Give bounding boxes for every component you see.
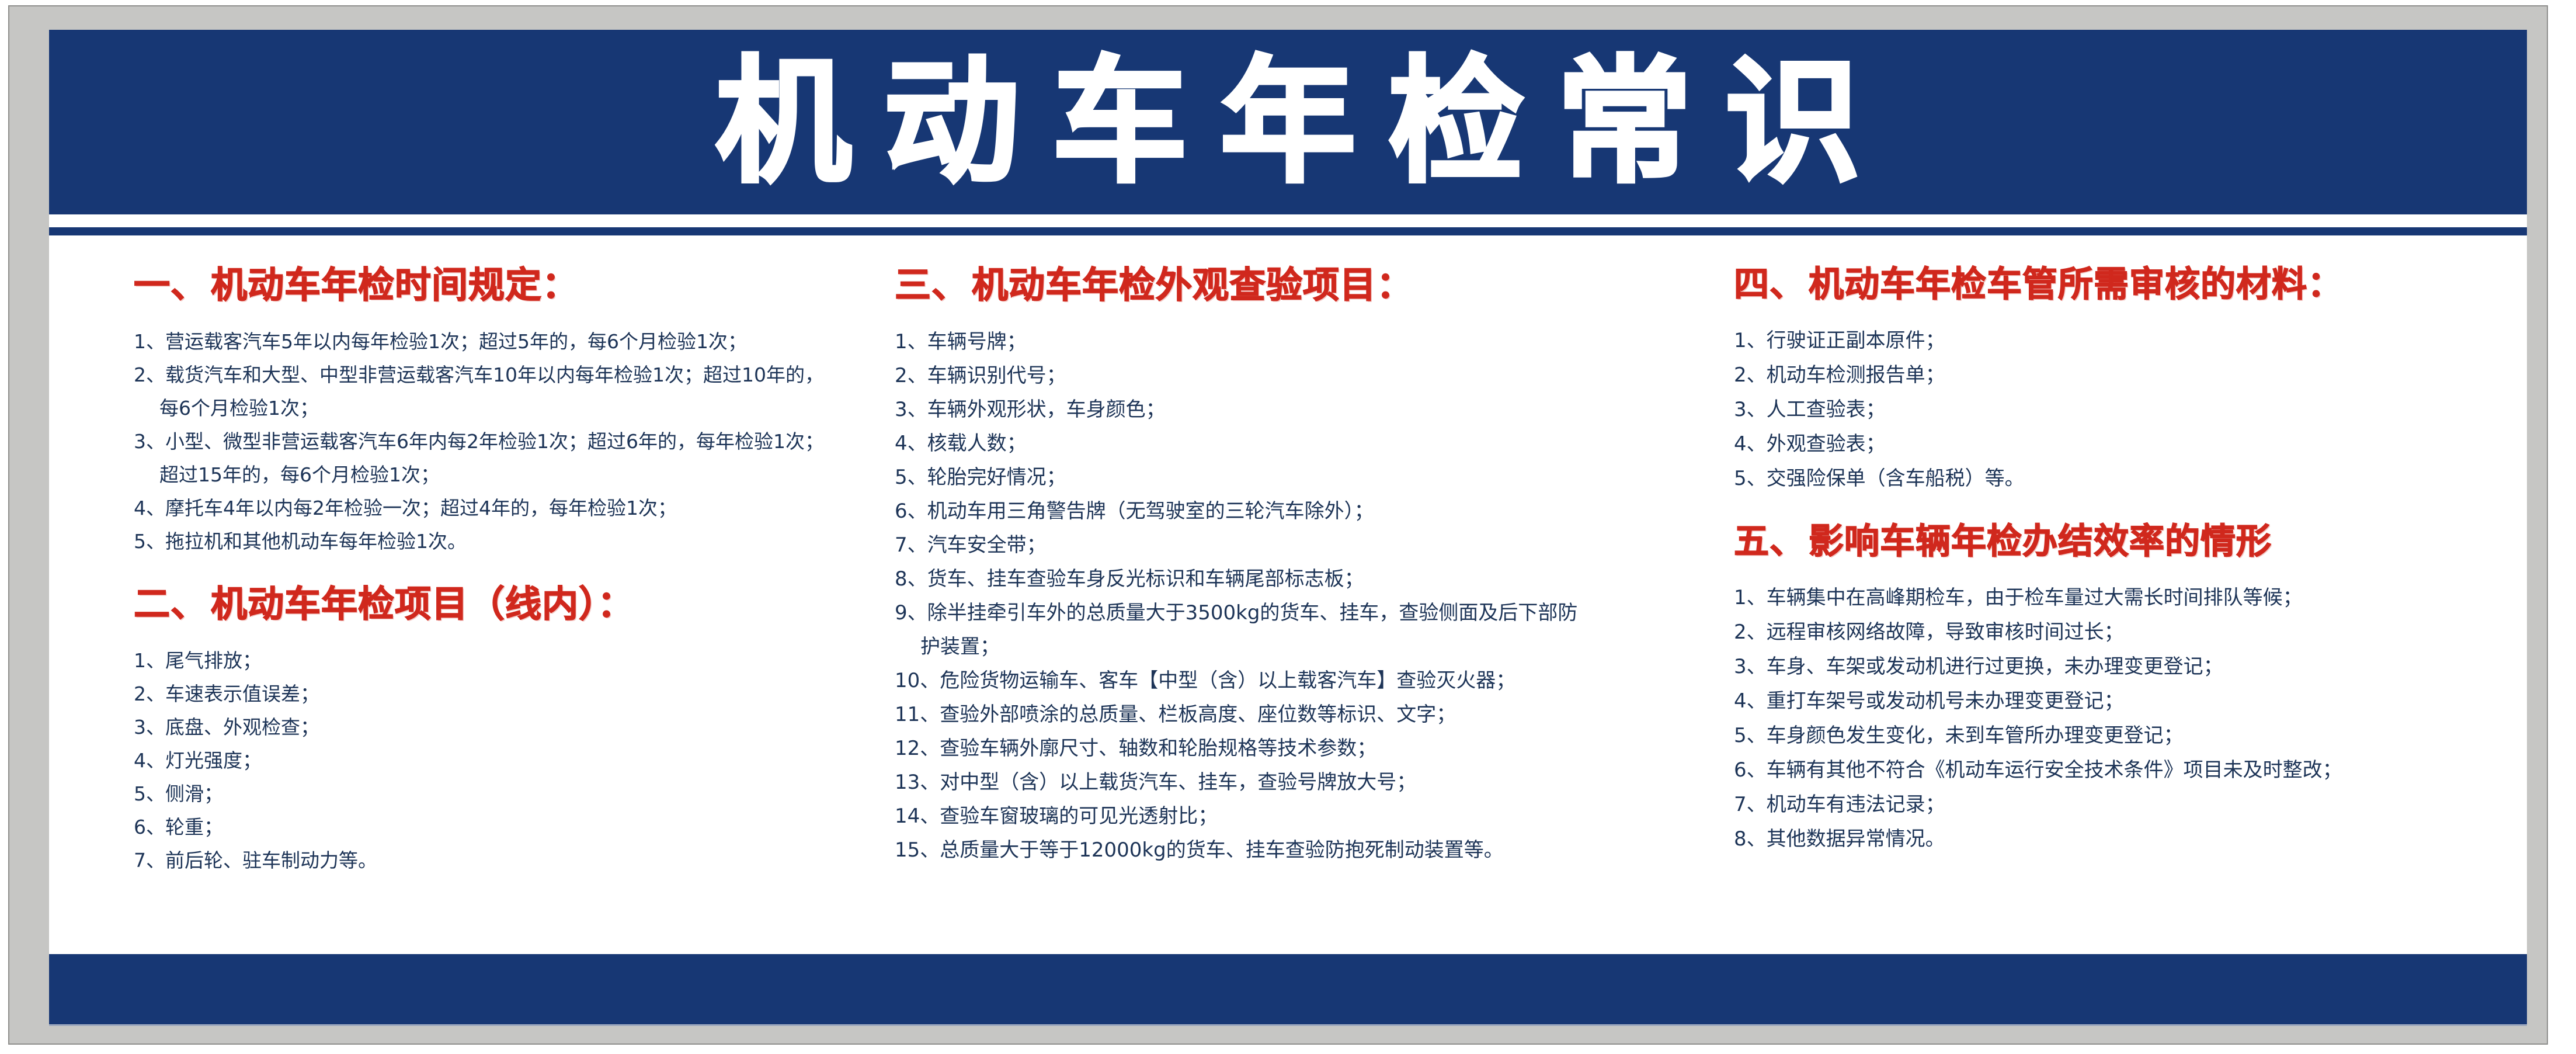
list-item-text: 2、车速表示值误差； [134, 682, 319, 705]
list-item: 8、其他数据异常情况。 [1734, 822, 2527, 857]
poster-header-band: 机动车年检常识 [49, 30, 2527, 214]
list-item-text: 6、轮重； [134, 816, 223, 838]
poster-outer-frame: 机动车年检常识 一、机动车年检时间规定：1、营运载客汽车5年以内每年检验1次；超… [8, 5, 2548, 1045]
poster-board: 机动车年检常识 一、机动车年检时间规定：1、营运载客汽车5年以内每年检验1次；超… [49, 30, 2527, 1026]
section-item-list: 1、车辆集中在高峰期检车，由于检车量过大需长时间排队等候；2、远程审核网络故障，… [1734, 581, 2527, 857]
list-item-text: 2、机动车检测报告单； [1734, 363, 1945, 387]
list-item: 13、对中型（含）以上载货汽车、挂车，查验号牌放大号； [895, 765, 1673, 799]
list-item-text: 5、侧滑； [134, 782, 223, 805]
list-item: 1、车辆号牌； [895, 325, 1673, 359]
list-item: 1、尾气排放； [134, 644, 855, 677]
list-item: 3、车身、车架或发动机进行过更换，未办理变更登记； [1734, 650, 2527, 684]
section-heading-text: 机动车年检项目（线内）： [211, 583, 634, 625]
section-numeral: 一、 [134, 263, 207, 306]
list-item: 2、车速表示值误差； [134, 677, 855, 710]
list-item: 5、侧滑； [134, 777, 855, 810]
list-item-text: 4、灯光强度； [134, 749, 262, 772]
list-item-text: 11、查验外部喷涂的总质量、栏板高度、座位数等标识、文字； [895, 703, 1456, 726]
list-item-text: 1、尾气排放； [134, 649, 262, 672]
list-item: 14、查验车窗玻璃的可见光透射比； [895, 799, 1673, 833]
header-divider-rule [49, 227, 2527, 235]
poster-title: 机动车年检常识 [683, 54, 1893, 190]
poster-footer-band [49, 954, 2527, 1026]
list-item-text: 9、除半挂牵引车外的总质量大于3500kg的货车、挂车，查验侧面及后下部防 [895, 601, 1577, 625]
list-item: 5、车身颜色发生变化，未到车管所办理变更登记； [1734, 719, 2527, 753]
list-item-text: 5、交强险保单（含车船税）等。 [1734, 467, 2025, 490]
list-item: 3、人工查验表； [1734, 393, 2527, 427]
section-numeral: 二、 [134, 583, 207, 625]
list-item: 4、外观查验表； [1734, 427, 2527, 462]
list-item: 2、远程审核网络故障，导致审核时间过长； [1734, 615, 2527, 650]
list-item: 7、机动车有违法记录； [1734, 788, 2527, 822]
section-heading-text: 机动车年检时间规定： [211, 263, 579, 306]
list-item-continuation: 超过15年的，每6个月检验1次； [134, 458, 855, 491]
list-item-text: 5、车身颜色发生变化，未到车管所办理变更登记； [1734, 724, 2184, 747]
section-heading: 三、机动车年检外观查验项目： [895, 266, 1673, 305]
list-item-text: 14、查验车窗玻璃的可见光透射比； [895, 805, 1218, 828]
list-item-text: 5、拖拉机和其他机动车每年检验1次。 [134, 530, 467, 553]
list-item-text: 3、小型、微型非营运载客汽车6年内每2年检验1次；超过6年的，每年检验1次； [134, 430, 824, 453]
list-item-text: 7、汽车安全带； [895, 533, 1047, 557]
list-item: 5、拖拉机和其他机动车每年检验1次。 [134, 525, 855, 558]
list-item-text: 6、机动车用三角警告牌（无驾驶室的三轮汽车除外）； [895, 500, 1374, 523]
list-item-text: 2、远程审核网络故障，导致审核时间过长； [1734, 620, 2124, 644]
list-item-text: 8、货车、挂车查验车身反光标识和车辆尾部标志板； [895, 567, 1364, 591]
list-item-text: 5、轮胎完好情况； [895, 466, 1066, 489]
section-numeral: 五、 [1734, 521, 1805, 562]
section-heading-text: 机动车年检外观查验项目： [972, 263, 1413, 306]
section-heading: 二、机动车年检项目（线内）： [134, 585, 855, 624]
list-item: 2、车辆识别代号； [895, 359, 1673, 393]
list-item: 8、货车、挂车查验车身反光标识和车辆尾部标志板； [895, 562, 1673, 596]
list-item-text: 1、车辆号牌； [895, 330, 1027, 353]
list-item-text: 10、危险货物运输车、客车【中型（含）以上载客汽车】查验灭火器； [895, 669, 1515, 692]
list-item-text: 4、外观查验表； [1734, 432, 1886, 456]
list-item-text: 12、查验车辆外廓尺寸、轴数和轮胎规格等技术参数； [895, 737, 1376, 760]
list-item-text: 4、重打车架号或发动机号未办理变更登记； [1734, 689, 2124, 713]
section-heading-text: 机动车年检车管所需审核的材料： [1809, 264, 2343, 305]
list-item-text: 1、车辆集中在高峰期检车，由于检车量过大需长时间排队等候； [1734, 586, 2303, 609]
list-item: 9、除半挂牵引车外的总质量大于3500kg的货车、挂车，查验侧面及后下部防护装置… [895, 596, 1673, 664]
list-item: 6、车辆有其他不符合《机动车运行安全技术条件》项目未及时整改； [1734, 753, 2527, 788]
section-heading: 四、机动车年检车管所需审核的材料： [1734, 266, 2527, 304]
list-item-text: 3、车身、车架或发动机进行过更换，未办理变更登记； [1734, 655, 2223, 678]
list-item-text: 2、载货汽车和大型、中型非营运载客汽车10年以内每年检验1次；超过10年的， [134, 363, 824, 386]
content-column-1: 一、机动车年检时间规定：1、营运载客汽车5年以内每年检验1次；超过5年的，每6个… [49, 235, 855, 877]
list-item: 3、底盘、外观检查； [134, 710, 855, 744]
list-item: 1、车辆集中在高峰期检车，由于检车量过大需长时间排队等候； [1734, 581, 2527, 615]
list-item: 1、行驶证正副本原件； [1734, 324, 2527, 358]
list-item: 11、查验外部喷涂的总质量、栏板高度、座位数等标识、文字； [895, 698, 1673, 731]
list-item: 2、载货汽车和大型、中型非营运载客汽车10年以内每年检验1次；超过10年的，每6… [134, 358, 855, 425]
section-item-list: 1、行驶证正副本原件；2、机动车检测报告单；3、人工查验表；4、外观查验表；5、… [1734, 324, 2527, 496]
section-block: 一、机动车年检时间规定：1、营运载客汽车5年以内每年检验1次；超过5年的，每6个… [134, 266, 855, 558]
list-item-text: 7、前后轮、驻车制动力等。 [134, 849, 377, 872]
list-item: 6、机动车用三角警告牌（无驾驶室的三轮汽车除外）； [895, 494, 1673, 528]
list-item: 15、总质量大于等于12000kg的货车、挂车查验防抱死制动装置等。 [895, 833, 1673, 867]
section-numeral: 四、 [1734, 264, 1805, 305]
content-column-3: 四、机动车年检车管所需审核的材料：1、行驶证正副本原件；2、机动车检测报告单；3… [1673, 235, 2527, 857]
list-item: 6、轮重； [134, 810, 855, 844]
list-item: 12、查验车辆外廓尺寸、轴数和轮胎规格等技术参数； [895, 731, 1673, 765]
list-item-text: 13、对中型（含）以上载货汽车、挂车，查验号牌放大号； [895, 771, 1416, 794]
list-item-text: 4、摩托车4年以内每2年检验一次；超过4年的，每年检验1次； [134, 497, 677, 519]
list-item: 4、重打车架号或发动机号未办理变更登记； [1734, 684, 2527, 719]
list-item-continuation: 护装置； [895, 630, 1673, 664]
list-item: 4、核载人数； [895, 427, 1673, 460]
list-item: 10、危险货物运输车、客车【中型（含）以上载客汽车】查验灭火器； [895, 664, 1673, 698]
list-item-text: 7、机动车有违法记录； [1734, 793, 1945, 816]
list-item: 5、轮胎完好情况； [895, 460, 1673, 494]
section-heading: 一、机动车年检时间规定： [134, 266, 855, 305]
list-item-continuation: 每6个月检验1次； [134, 391, 855, 425]
section-block: 五、影响车辆年检办结效率的情形1、车辆集中在高峰期检车，由于检车量过大需长时间排… [1734, 523, 2527, 857]
section-heading-text: 影响车辆年检办结效率的情形 [1809, 521, 2272, 562]
list-item: 3、车辆外观形状，车身颜色； [895, 393, 1673, 427]
section-item-list: 1、车辆号牌；2、车辆识别代号；3、车辆外观形状，车身颜色；4、核载人数；5、轮… [895, 325, 1673, 867]
list-item-text: 3、人工查验表； [1734, 398, 1886, 421]
list-item: 4、灯光强度； [134, 744, 855, 777]
list-item: 4、摩托车4年以内每2年检验一次；超过4年的，每年检验1次； [134, 491, 855, 525]
list-item: 5、交强险保单（含车船税）等。 [1734, 462, 2527, 496]
list-item-text: 8、其他数据异常情况。 [1734, 827, 1945, 851]
list-item-text: 4、核载人数； [895, 432, 1027, 455]
section-block: 四、机动车年检车管所需审核的材料：1、行驶证正副本原件；2、机动车检测报告单；3… [1734, 266, 2527, 496]
list-item-text: 6、车辆有其他不符合《机动车运行安全技术条件》项目未及时整改； [1734, 758, 2342, 782]
list-item-text: 15、总质量大于等于12000kg的货车、挂车查验防抱死制动装置等。 [895, 838, 1504, 862]
section-block: 二、机动车年检项目（线内）：1、尾气排放；2、车速表示值误差；3、底盘、外观检查… [134, 585, 855, 877]
poster-content-columns: 一、机动车年检时间规定：1、营运载客汽车5年以内每年检验1次；超过5年的，每6个… [49, 235, 2527, 956]
list-item: 1、营运载客汽车5年以内每年检验1次；超过5年的，每6个月检验1次； [134, 325, 855, 358]
section-block: 三、机动车年检外观查验项目：1、车辆号牌；2、车辆识别代号；3、车辆外观形状，车… [895, 266, 1673, 867]
list-item-text: 3、底盘、外观检查； [134, 716, 319, 739]
list-item-text: 2、车辆识别代号； [895, 364, 1066, 387]
list-item-text: 1、行驶证正副本原件； [1734, 329, 1945, 352]
list-item: 3、小型、微型非营运载客汽车6年内每2年检验1次；超过6年的，每年检验1次；超过… [134, 425, 855, 491]
list-item-text: 1、营运载客汽车5年以内每年检验1次；超过5年的，每6个月检验1次； [134, 330, 747, 353]
list-item: 2、机动车检测报告单； [1734, 358, 2527, 393]
list-item: 7、汽车安全带； [895, 528, 1673, 562]
section-numeral: 三、 [895, 263, 968, 306]
list-item: 7、前后轮、驻车制动力等。 [134, 844, 855, 877]
section-heading: 五、影响车辆年检办结效率的情形 [1734, 523, 2527, 561]
section-item-list: 1、尾气排放；2、车速表示值误差；3、底盘、外观检查；4、灯光强度；5、侧滑；6… [134, 644, 855, 877]
section-item-list: 1、营运载客汽车5年以内每年检验1次；超过5年的，每6个月检验1次；2、载货汽车… [134, 325, 855, 558]
content-column-2: 三、机动车年检外观查验项目：1、车辆号牌；2、车辆识别代号；3、车辆外观形状，车… [855, 235, 1673, 867]
list-item-text: 3、车辆外观形状，车身颜色； [895, 398, 1166, 421]
